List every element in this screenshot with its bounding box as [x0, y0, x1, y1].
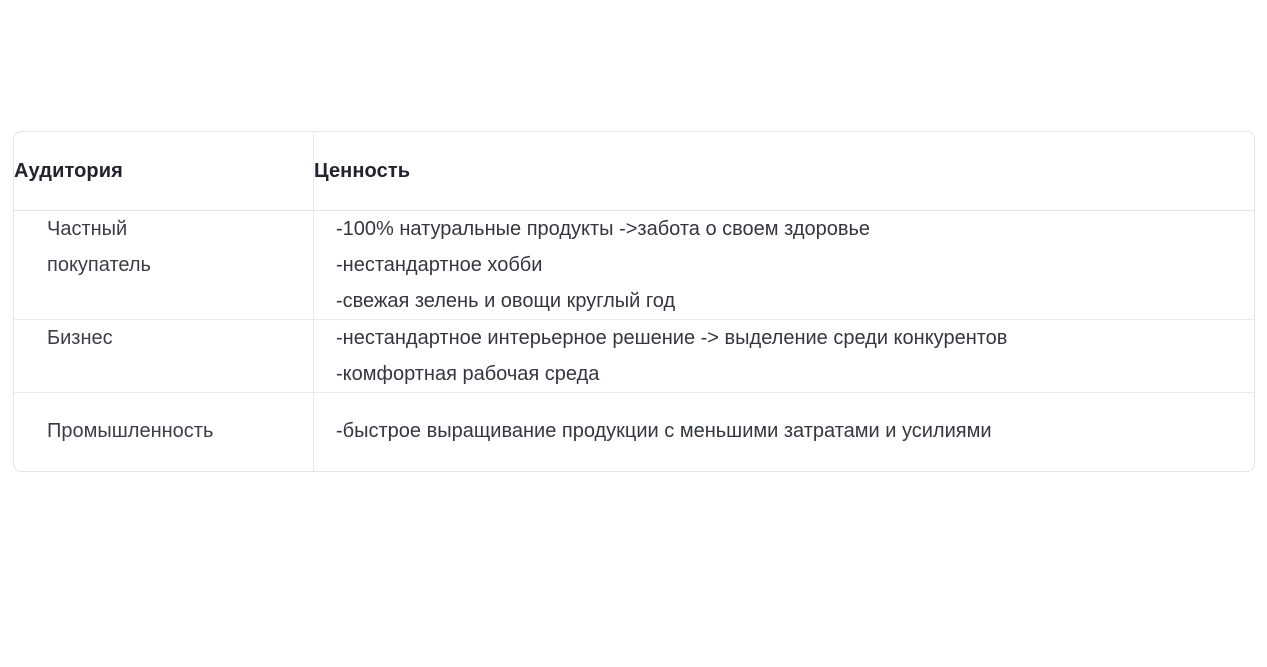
column-header-value: Ценность — [314, 132, 1254, 211]
value-line: -нестандартное хобби — [336, 247, 1230, 283]
table-row: Частный покупатель -100% натуральные про… — [14, 211, 1254, 319]
value-line: -нестандартное интерьерное решение -> вы… — [336, 320, 1230, 356]
cell-value: -нестандартное интерьерное решение -> вы… — [314, 319, 1254, 392]
value-line: -100% натуральные продукты ->забота о св… — [336, 211, 1230, 247]
value-list: -100% натуральные продукты ->забота о св… — [336, 211, 1230, 319]
audience-label: Частный покупатель — [47, 218, 151, 276]
audience-label: Промышленность — [47, 420, 213, 442]
cell-value: -быстрое выращивание продукции с меньшим… — [314, 392, 1254, 471]
value-list: -нестандартное интерьерное решение -> вы… — [336, 320, 1230, 392]
cell-audience: Частный покупатель — [14, 211, 314, 319]
cell-audience: Бизнес — [14, 319, 314, 392]
value-line: -свежая зелень и овощи круглый год — [336, 283, 1230, 319]
table-body: Частный покупатель -100% натуральные про… — [14, 211, 1254, 471]
cell-audience: Промышленность — [14, 392, 314, 471]
table-header-row: Аудитория Ценность — [14, 132, 1254, 211]
column-header-audience: Аудитория — [14, 132, 314, 211]
value-line: -быстрое выращивание продукции с меньшим… — [336, 413, 1230, 449]
value-table-container: Аудитория Ценность Частный покупатель -1… — [13, 131, 1255, 472]
value-list: -быстрое выращивание продукции с меньшим… — [336, 413, 1230, 449]
audience-label: Бизнес — [47, 327, 113, 349]
audience-value-table: Аудитория Ценность Частный покупатель -1… — [13, 131, 1255, 472]
page-canvas: Аудитория Ценность Частный покупатель -1… — [0, 0, 1267, 667]
table-row: Бизнес -нестандартное интерьерное решени… — [14, 319, 1254, 392]
value-line: -комфортная рабочая среда — [336, 356, 1230, 392]
cell-value: -100% натуральные продукты ->забота о св… — [314, 211, 1254, 319]
table-header: Аудитория Ценность — [14, 132, 1254, 211]
table-row: Промышленность -быстрое выращивание прод… — [14, 392, 1254, 471]
